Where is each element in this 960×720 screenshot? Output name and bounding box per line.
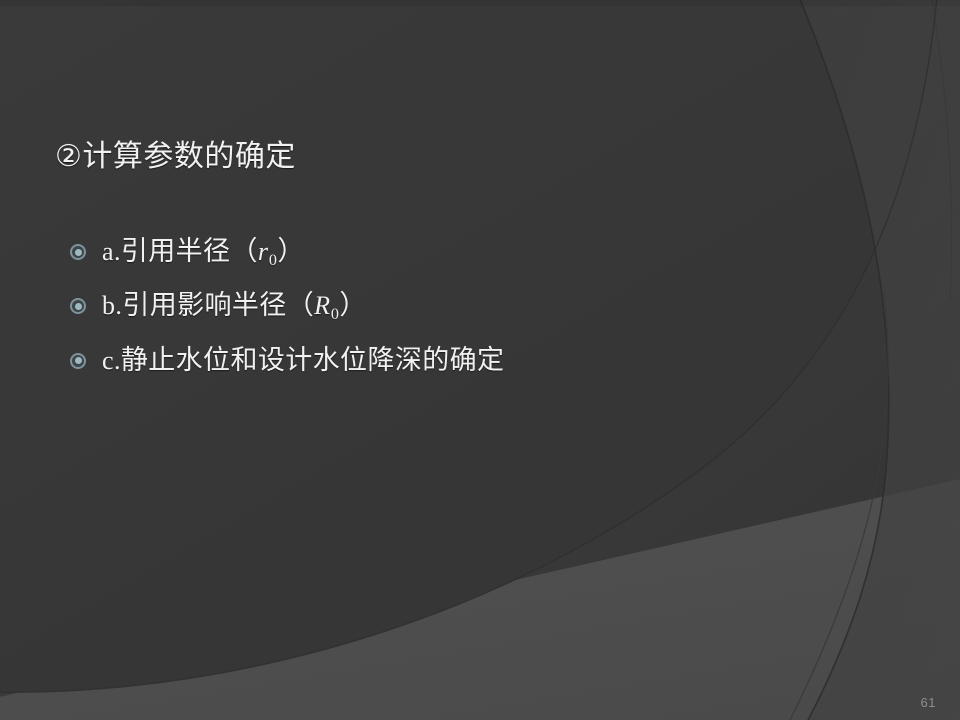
slide-content: ②计算参数的确定 a.引用半径（r0） b.引用影响半径（R0） c.静止水位和… — [0, 0, 960, 720]
bullet-b-text: 引用影响半径（ — [122, 290, 314, 320]
bullet-a-prefix: a. — [102, 237, 121, 266]
bullet-b-suffix: ） — [339, 290, 366, 320]
bullet-item-b: b.引用影响半径（R0） — [70, 286, 870, 326]
target-circle-bullet-icon — [70, 353, 86, 369]
bullet-b-symbol: R0 — [314, 291, 339, 320]
page-number: 61 — [921, 695, 936, 710]
bullet-b-prefix: b. — [102, 291, 122, 320]
bullet-c-prefix: c. — [102, 346, 121, 375]
slide-title: ②计算参数的确定 — [55, 138, 296, 176]
bullet-item-a: a.引用半径（r0） — [70, 232, 870, 272]
bullet-item-a-label: a.引用半径（r0） — [102, 232, 870, 272]
bullet-list: a.引用半径（r0） b.引用影响半径（R0） c.静止水位和设计水位降深的确定 — [70, 232, 870, 394]
bullet-item-c-label: c.静止水位和设计水位降深的确定 — [102, 341, 870, 380]
bullet-a-symbol-subscript: 0 — [268, 252, 277, 269]
slide-canvas: ②计算参数的确定 a.引用半径（r0） b.引用影响半径（R0） c.静止水位和… — [0, 0, 960, 720]
bullet-c-text: 静止水位和设计水位降深的确定 — [121, 345, 505, 375]
target-circle-bullet-icon — [70, 244, 86, 260]
bullet-a-suffix: ） — [277, 236, 304, 266]
target-circle-bullet-icon — [70, 298, 86, 314]
bullet-a-symbol-base: r — [258, 237, 269, 266]
bullet-item-b-label: b.引用影响半径（R0） — [102, 286, 870, 326]
bullet-b-symbol-base: R — [314, 291, 330, 320]
bullet-a-symbol: r0 — [258, 237, 278, 266]
bullet-item-c: c.静止水位和设计水位降深的确定 — [70, 341, 870, 380]
bullet-a-text: 引用半径（ — [121, 236, 258, 266]
